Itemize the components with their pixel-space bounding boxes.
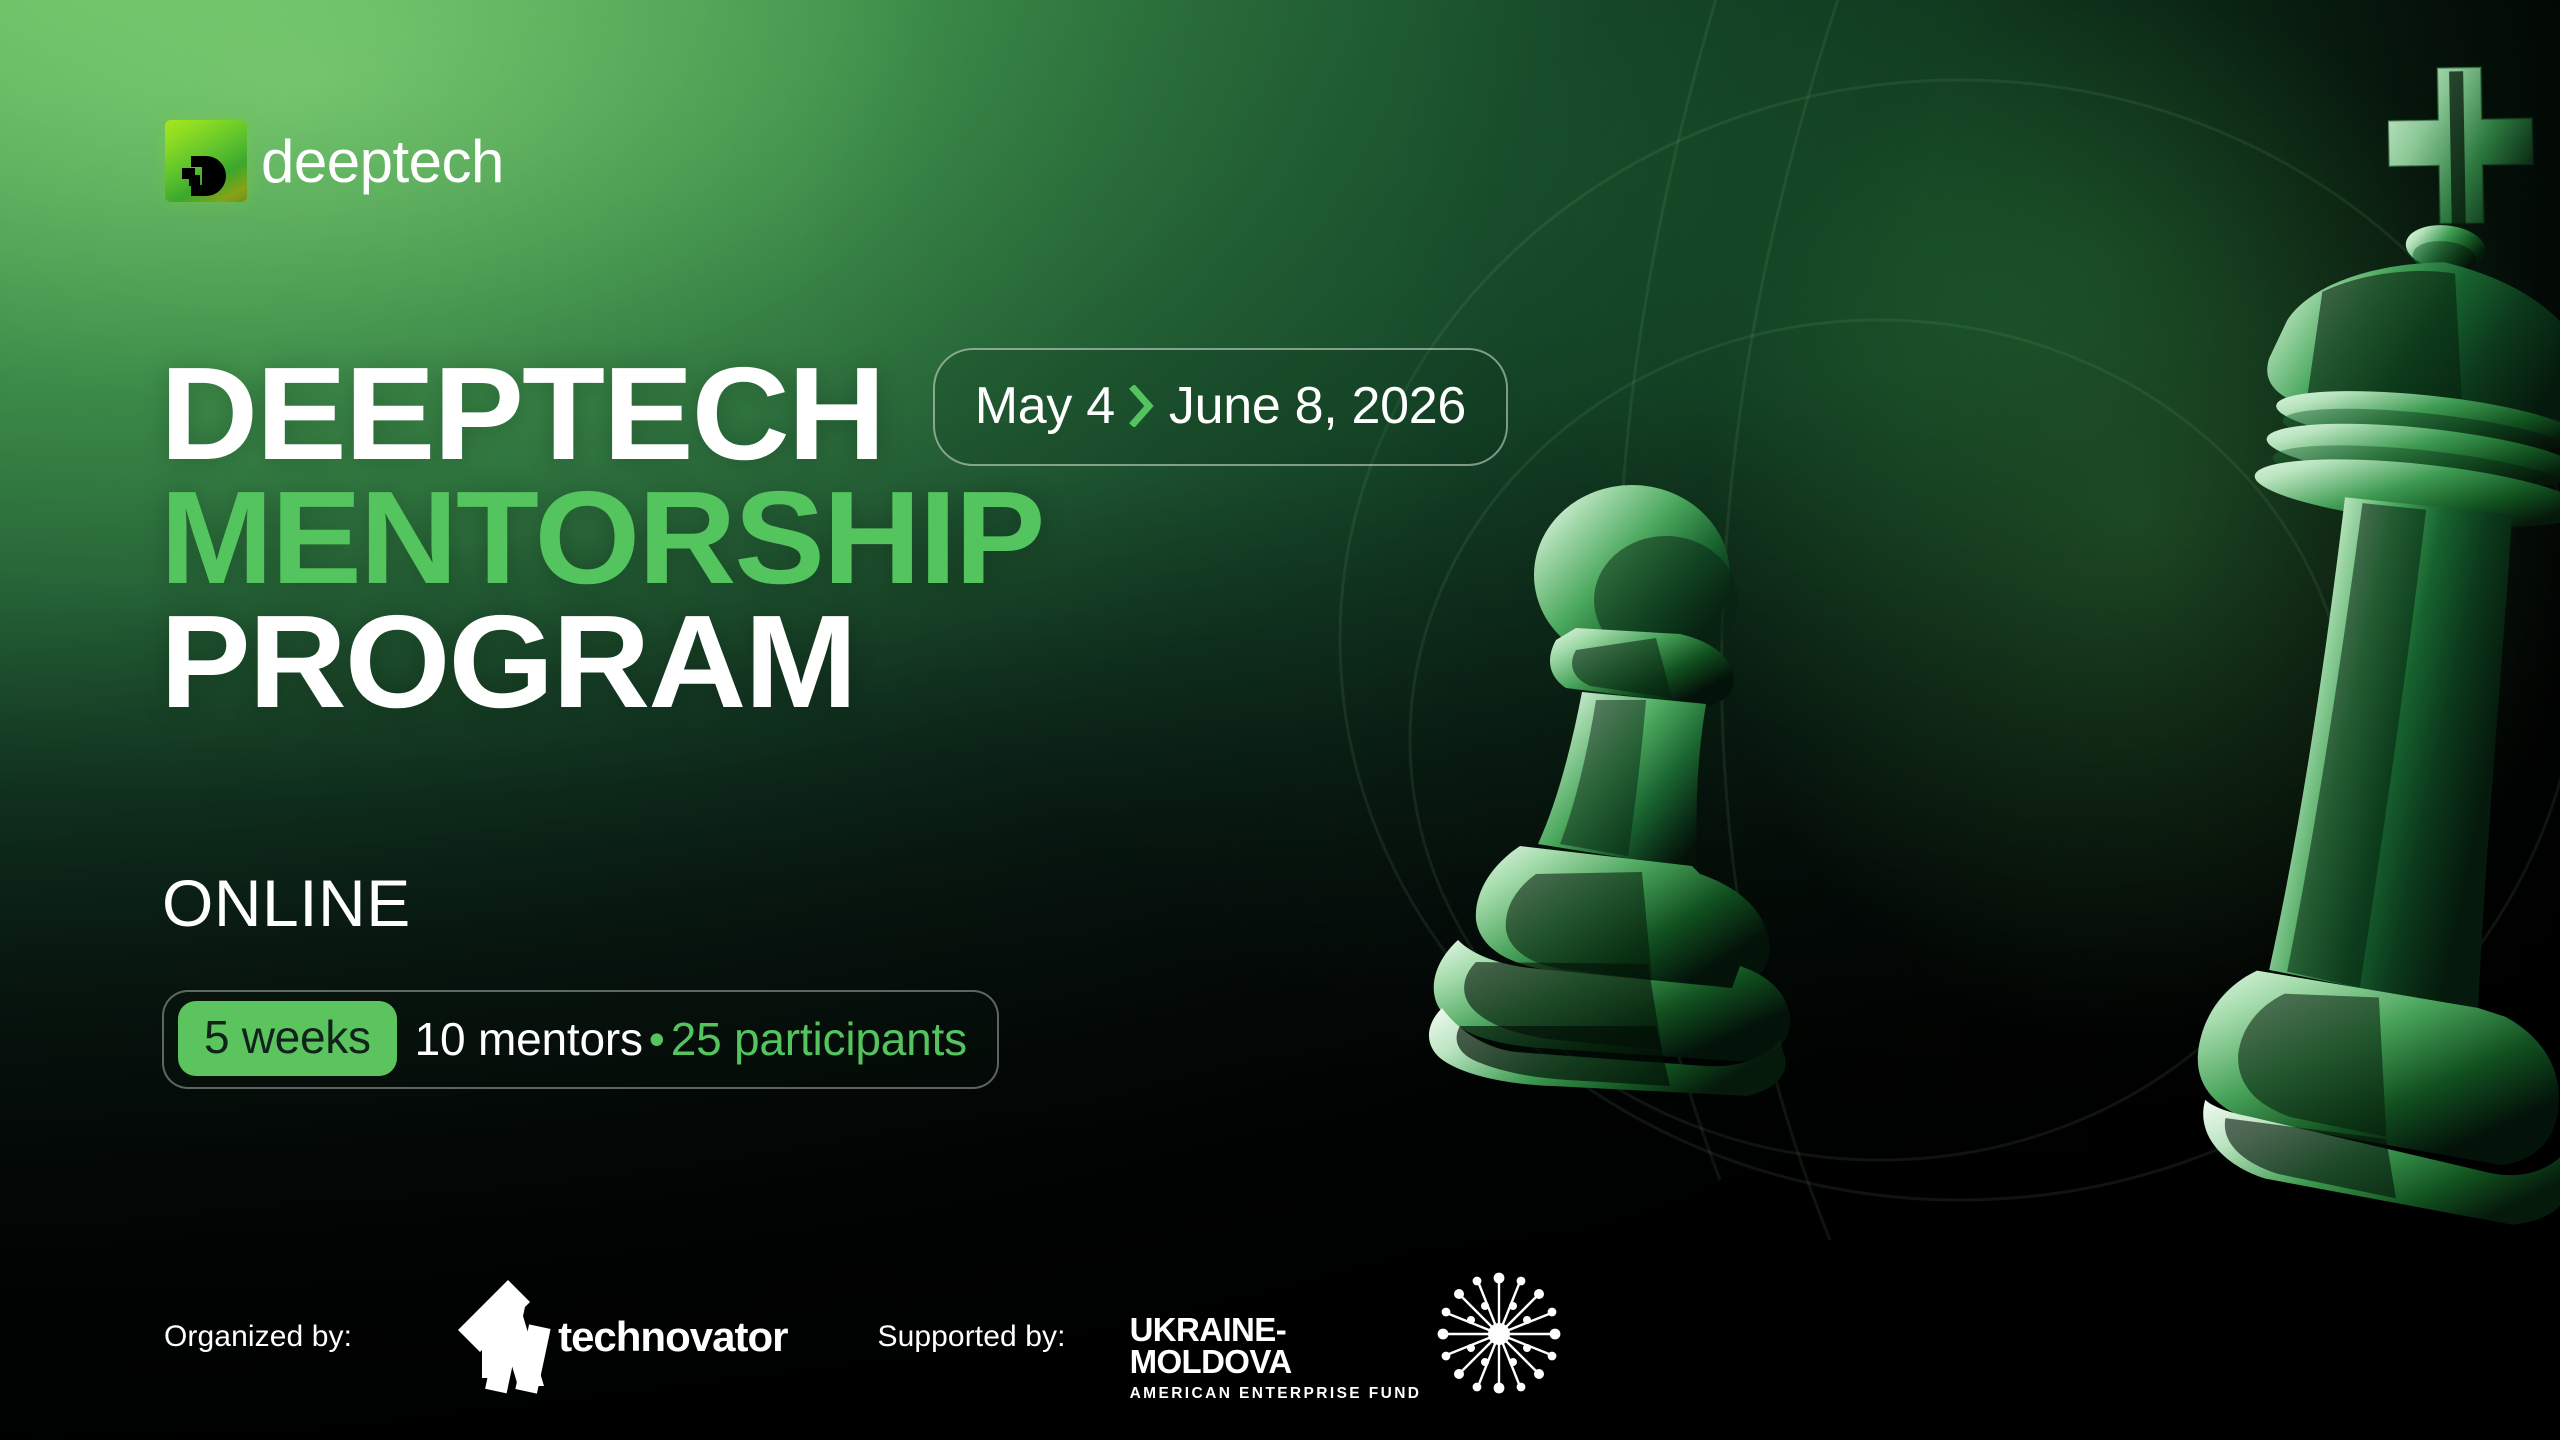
dandelion-starburst-icon: [1435, 1270, 1563, 1403]
headline-line-2: MENTORSHIP: [160, 476, 1548, 600]
deeptech-d-logo-icon: [165, 120, 247, 202]
participants-count: 25 participants: [671, 1013, 967, 1065]
supporter-line-1: UKRAINE-: [1130, 1314, 1422, 1346]
supporter-logo[interactable]: UKRAINE- MOLDOVA AMERICAN ENTERPRISE FUN…: [1130, 1270, 1564, 1403]
supported-by-label: Supported by:: [877, 1320, 1065, 1354]
technovator-arrow-n-logo-icon: [436, 1274, 556, 1399]
headline-line-1: DEEPTECH: [160, 352, 884, 476]
organized-by-label: Organized by:: [164, 1320, 352, 1354]
date-range-pill[interactable]: May 4 June 8, 2026: [933, 348, 1508, 466]
organizer-logo[interactable]: technovator: [436, 1274, 787, 1399]
brand-logo[interactable]: deeptech: [165, 120, 504, 202]
headline-line-3: PROGRAM: [160, 600, 1548, 724]
promo-banner: deeptech DEEPTECH May 4 June 8, 2026 MEN…: [0, 0, 2560, 1440]
organizer-name: technovator: [558, 1313, 787, 1361]
supporter-line-3: AMERICAN ENTERPRISE FUND: [1130, 1385, 1422, 1403]
supporter-line-2: MOLDOVA: [1130, 1346, 1422, 1378]
mentors-count: 10 mentors: [415, 1013, 643, 1065]
chevron-right-icon: [1129, 385, 1155, 427]
format-label: ONLINE: [162, 865, 411, 941]
headline-block: DEEPTECH May 4 June 8, 2026 MENTORSHIP P…: [160, 352, 1508, 724]
date-start: May 4: [975, 376, 1115, 436]
date-end: June 8, 2026: [1169, 376, 1466, 436]
stats-bullet: •: [643, 1013, 671, 1065]
duration-badge: 5 weeks: [178, 1001, 397, 1076]
program-stats-pill: 5 weeks 10 mentors•25 participants: [162, 990, 999, 1089]
brand-name: deeptech: [261, 127, 504, 196]
stats-detail: 10 mentors•25 participants: [415, 1012, 967, 1066]
footer-partners: Organized by: technovator Supported by:: [164, 1270, 1563, 1403]
